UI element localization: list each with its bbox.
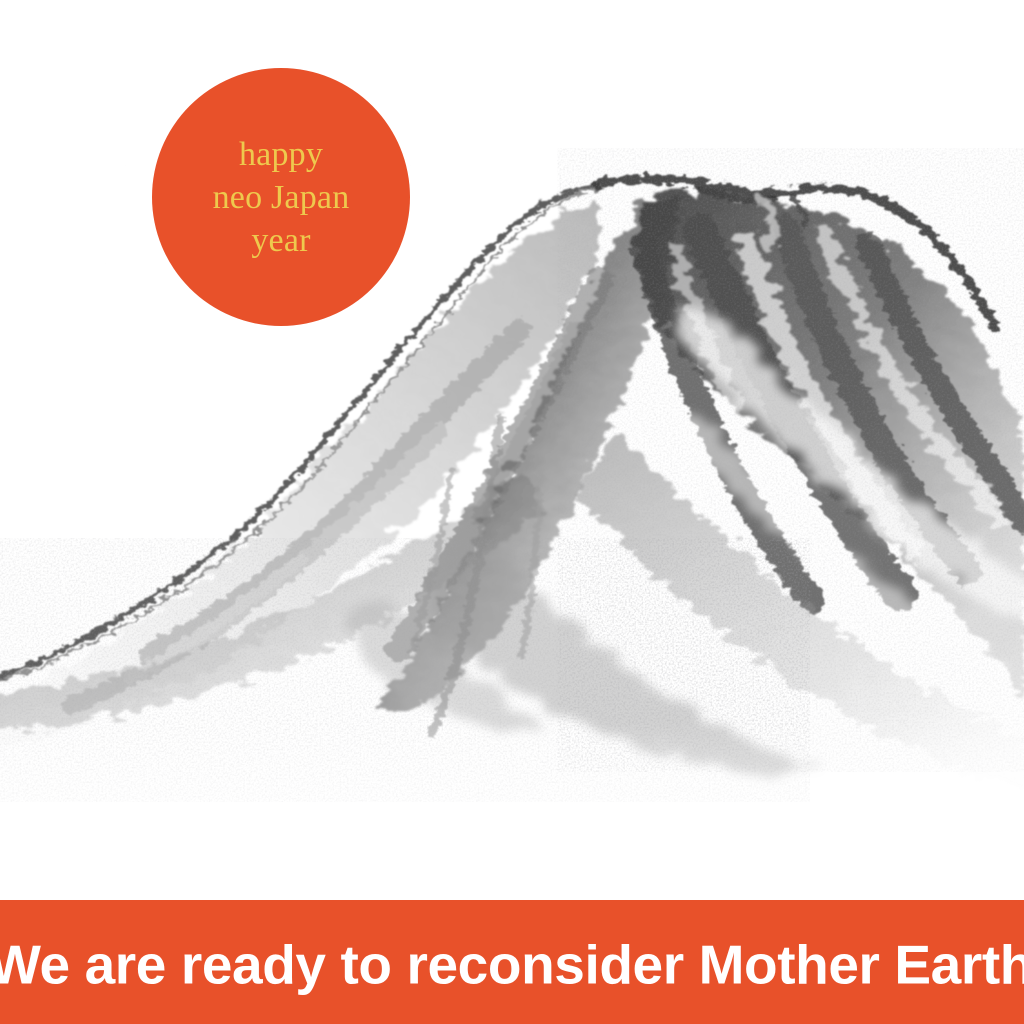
mount-fuji-ink-painting <box>0 0 1024 940</box>
greeting-line-2: neo Japan <box>213 176 350 219</box>
greeting-line-3: year <box>251 219 310 262</box>
rising-sun-circle-badge: happy neo Japan year <box>152 68 410 326</box>
banner-message: We are ready to reconsider Mother Earth … <box>0 938 1024 993</box>
poster-canvas: happy neo Japan year We are ready to rec… <box>0 0 1024 1024</box>
greeting-line-1: happy <box>239 133 323 176</box>
bottom-message-banner: We are ready to reconsider Mother Earth … <box>0 900 1024 1024</box>
